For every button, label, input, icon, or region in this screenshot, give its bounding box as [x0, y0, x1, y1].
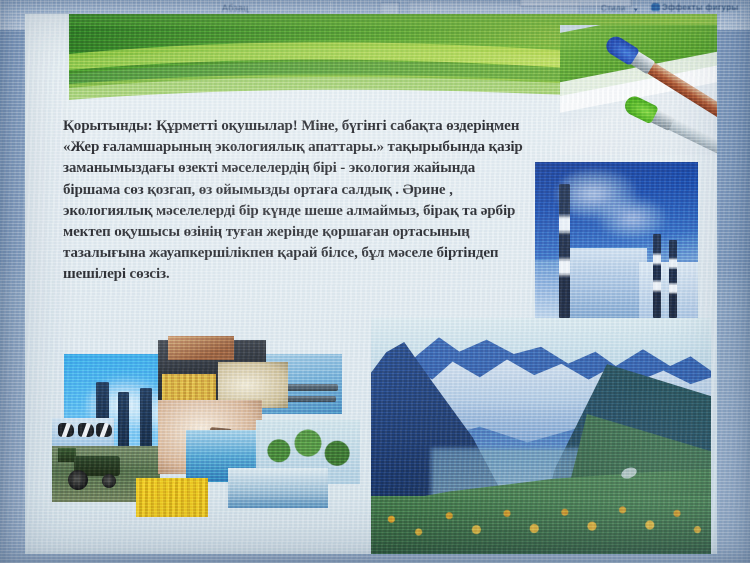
screenshot-root: Абзац Рисование Стили ▾ Эффекты фигуры — [0, 0, 750, 563]
smokestack — [559, 184, 570, 318]
shape-effects-icon[interactable] — [651, 3, 660, 11]
smokestack — [669, 240, 677, 318]
factory-smokestacks-photo[interactable] — [535, 162, 698, 318]
collage-shore-photo — [228, 468, 328, 508]
paint-brushes-photo[interactable] — [560, 25, 717, 155]
ecology-collage-photo[interactable] — [50, 336, 361, 517]
collage-hand-photo — [168, 336, 234, 360]
cow — [58, 423, 74, 437]
collage-cows-photo — [52, 418, 114, 446]
ribbon-group-paragraph[interactable]: Абзац — [222, 3, 249, 13]
chevron-down-icon[interactable]: ▾ — [634, 6, 638, 14]
cow — [78, 423, 94, 437]
mountain-landscape-photo[interactable] — [371, 318, 711, 554]
cow — [96, 423, 112, 437]
ribbon-group-styles[interactable]: Стили — [601, 4, 626, 13]
collage-yellow-field — [136, 478, 208, 517]
slide-body-text[interactable]: Қорытынды: Құрметті оқушылар! Міне, бүгі… — [63, 116, 525, 286]
tractor-wheel — [68, 470, 88, 490]
mountain-wildflower-meadow — [371, 496, 711, 554]
factory-building — [569, 248, 647, 318]
slide-canvas[interactable]: Қорытынды: Құрметті оқушылар! Міне, бүгі… — [25, 14, 717, 554]
tractor-wheel — [102, 474, 116, 488]
smokestack — [653, 234, 661, 318]
ribbon-button-shape-effects[interactable]: Эффекты фигуры — [662, 3, 739, 12]
